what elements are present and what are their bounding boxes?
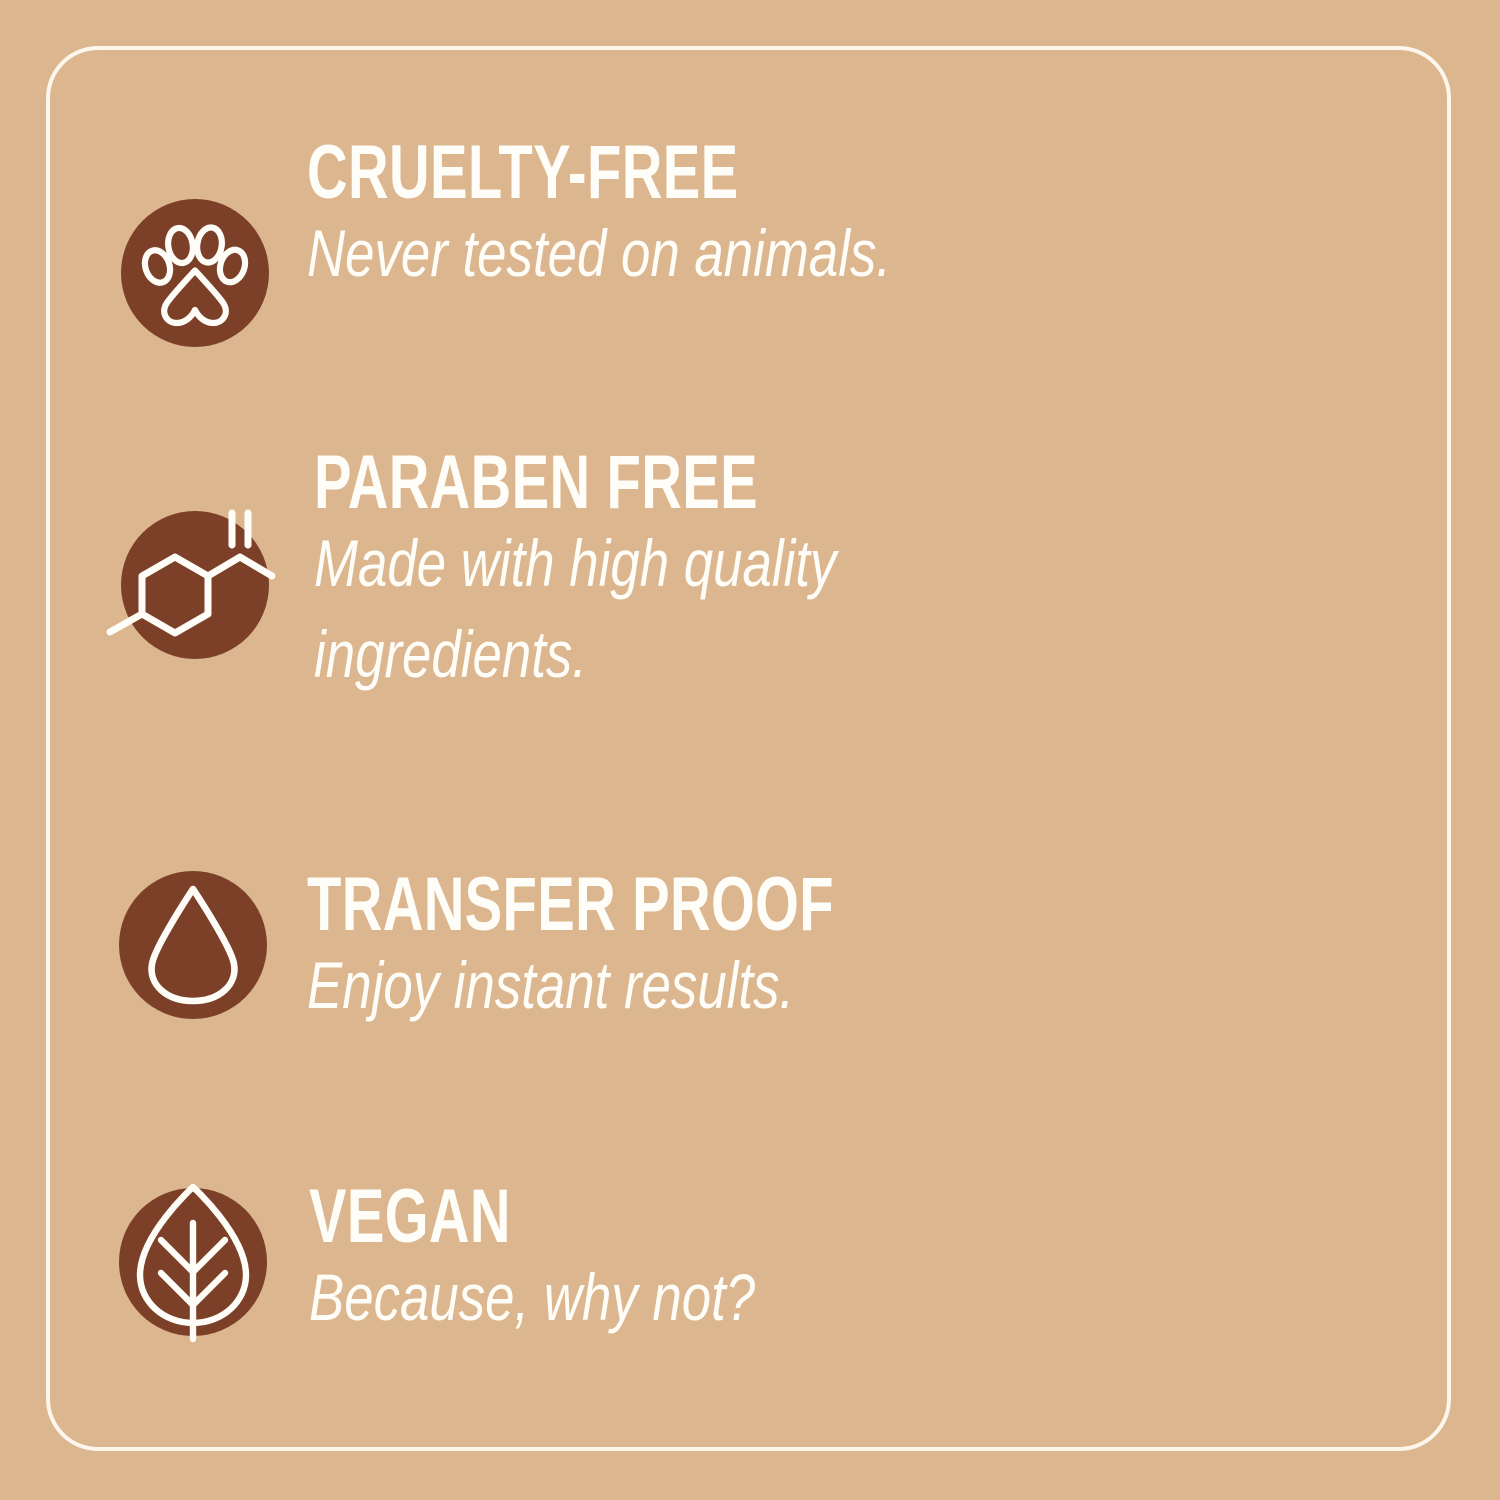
benefits-card: CRUELTY-FREE Never tested on animals. <box>0 0 1500 1500</box>
feature-title: TRANSFER PROOF <box>307 870 1121 940</box>
paw-print-icon <box>121 199 269 347</box>
feature-title: VEGAN <box>309 1182 1123 1252</box>
water-droplet-icon <box>119 871 267 1019</box>
leaf-icon <box>119 1188 267 1336</box>
feature-description: Never tested on animals. <box>307 208 1187 299</box>
feature-text-block: PARABEN FREE Made with high quality ingr… <box>314 448 1414 700</box>
feature-title: CRUELTY-FREE <box>307 138 1121 208</box>
feature-description: Enjoy instant results. <box>307 940 1187 1031</box>
molecule-structure-icon <box>121 511 269 659</box>
feature-description: Because, why not? <box>309 1252 1189 1343</box>
feature-list: CRUELTY-FREE Never tested on animals. <box>0 0 1500 1500</box>
feature-text-block: VEGAN Because, why not? <box>309 1182 1409 1343</box>
feature-text-block: TRANSFER PROOF Enjoy instant results. <box>307 870 1407 1031</box>
feature-text-block: CRUELTY-FREE Never tested on animals. <box>307 138 1407 299</box>
feature-description: Made with high quality ingredients. <box>314 518 1194 700</box>
feature-title: PARABEN FREE <box>314 448 1128 518</box>
